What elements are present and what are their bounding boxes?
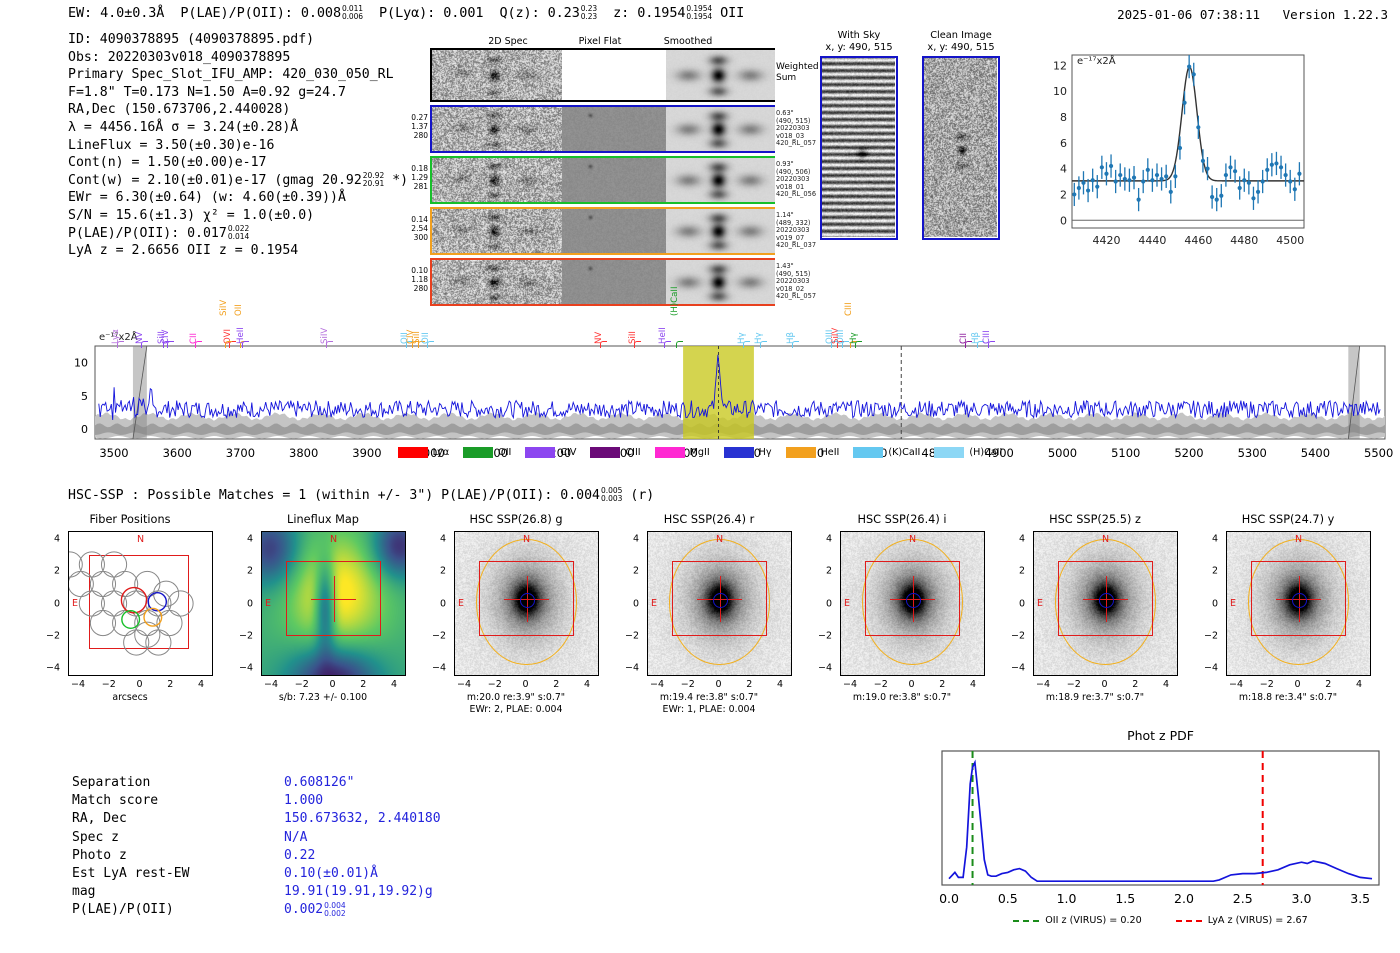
spec2d-rows: WeightedSum0.271.372800.63"(490, 515)202… [430, 48, 775, 306]
header-datetime: 2025-01-06 07:38:11 [1117, 7, 1260, 22]
match-key-0: Separation [72, 774, 284, 792]
spectrum-legend-label-5: Hγ [759, 447, 772, 458]
match-value-4: 0.22 [284, 848, 315, 863]
svg-text:3.0: 3.0 [1292, 891, 1312, 906]
spectrum-line-label-HCaII: (H)CaII [670, 286, 680, 316]
cutout-caption-4: m:19.0 re:3.8" s:0.7" [807, 692, 997, 704]
spec2d-row-stat-1-2: 280 [402, 131, 428, 140]
spec2d-cell-raw-3 [432, 209, 562, 253]
cutout-ytick-1-4: −4 [231, 663, 253, 674]
cutout-ytick-0-0: 4 [38, 534, 60, 545]
cutout-caption-0: arcsecs [35, 692, 225, 704]
cutout-ytick-4-3: −2 [810, 630, 832, 641]
phot-z-legend-label-0: OII z (VIRUS) = 0.20 [1045, 915, 1142, 926]
spectrum-legend-swatch-4 [655, 447, 685, 458]
spectrum-line-bracket-19 [760, 341, 767, 348]
hsc-matches-header: HSC-SSP : Possible Matches = 1 (within +… [68, 487, 654, 503]
spectrum-line-label-CIII: CIII [844, 302, 854, 316]
phot-z-legend-dash-0 [1013, 920, 1039, 922]
phot-z-plot: 0.00.51.01.52.02.53.03.5 [928, 743, 1393, 911]
cutout-ytick-1-3: −2 [231, 630, 253, 641]
info-redshifts: LyA z = 2.6656 OII z = 0.1954 [68, 242, 408, 260]
cutout-panel-3: HSC SSP(26.4) rNE420−2−4−4−2024m:19.4 re… [614, 513, 804, 676]
match-key-7: P(LAE)/P(OII) [72, 901, 284, 919]
spec2d-row-0: WeightedSum [430, 48, 775, 102]
spectrum-line-bracket-14 [600, 341, 607, 348]
cutout-xtick-4-1: −2 [874, 679, 888, 690]
spec2d-cell-flat-1 [562, 107, 666, 151]
cutout-panel-0: Fiber PositionsNE420−2−4−4−2024arcsecs [35, 513, 225, 676]
info-line-1: Obs: 20220303v018_4090378895 [68, 49, 408, 67]
spectrum-legend-swatch-6 [786, 447, 816, 458]
cutout-xtick-5-2: 0 [1101, 679, 1107, 690]
spectrum-legend-swatch-7 [853, 447, 883, 458]
spec2d-cell-raw-1 [432, 107, 562, 151]
cutout-xtick-0-1: −2 [102, 679, 116, 690]
spec2d-cell-flat-0 [562, 50, 666, 100]
cutout-ytick-3-4: −4 [617, 663, 639, 674]
sky-panel-coords-1: x, y: 490, 515 [922, 42, 1000, 54]
line-fit-units: e⁻¹⁷x2Å [1077, 56, 1116, 67]
cutout-compass-e-2: E [458, 598, 464, 609]
cutout-xtick-0-0: −4 [71, 679, 85, 690]
header-z-type: OII [720, 5, 744, 21]
cutout-compass-n-0: N [137, 534, 144, 545]
cutout-xtick-0-3: 2 [167, 679, 173, 690]
line-fit-svg: 02468101244204440446044804500 [1032, 45, 1310, 260]
cutout-ytick-3-0: 4 [617, 534, 639, 545]
spec2d-cell-smoothed-0 [666, 50, 773, 100]
spectrum-legend-label-2: CIV [560, 447, 576, 458]
info-line-6: LineFlux = 3.50(±0.30)e-16 [68, 137, 408, 155]
cutout-compass-n-6: N [1295, 534, 1302, 545]
cutout-xtick-5-0: −4 [1036, 679, 1050, 690]
match-row-0: Separation0.608126" [72, 774, 441, 792]
svg-text:10: 10 [1053, 85, 1067, 98]
cutout-xtick-1-3: 2 [360, 679, 366, 690]
cutout-ytick-6-3: −2 [1196, 630, 1218, 641]
header-plya-value: 0.001 [443, 5, 483, 21]
svg-text:0.5: 0.5 [998, 891, 1018, 906]
spectrum-legend-swatch-5 [724, 447, 754, 458]
spectrum-line-bracket-3 [167, 341, 174, 348]
full-spectrum-svg: 0510350036003700380039004000410042004300… [0, 272, 1400, 467]
cutout-ytick-5-2: 0 [1003, 598, 1025, 609]
cutout-xtick-0-4: 4 [198, 679, 204, 690]
spec2d-row-stat-2-2: 281 [402, 182, 428, 191]
cutout-blue-marker-3 [713, 593, 728, 608]
svg-text:2.0: 2.0 [1174, 891, 1194, 906]
sky-panel-image-0 [820, 56, 898, 240]
spectrum-legend-item-5: Hγ [724, 447, 772, 458]
match-key-2: RA, Dec [72, 810, 284, 828]
spec2d-cell-raw-2 [432, 158, 562, 202]
spec2d-cell-smoothed-2 [666, 158, 773, 202]
fiber-circles [69, 532, 212, 675]
cutout-ytick-0-3: −2 [38, 630, 60, 641]
spec2d-row-3: 0.142.543001.14"(489, 332)20220303v019_0… [430, 207, 775, 255]
cutout-xtick-5-1: −2 [1067, 679, 1081, 690]
cutout-ytick-0-2: 0 [38, 598, 60, 609]
cutout-caption-line1-5: m:18.9 re:3.7" s:0.7" [1000, 692, 1190, 704]
sky-panel-0: With Skyx, y: 490, 515 [820, 30, 898, 240]
cutout-title-0: Fiber Positions [35, 513, 225, 531]
cutout-caption-line1-3: m:19.4 re:3.8" s:0.7" [614, 692, 804, 704]
cutout-panel-4: HSC SSP(26.4) iNE420−2−4−4−2024m:19.0 re… [807, 513, 997, 676]
info-line-3: F=1.8" T=0.173 N=1.50 A=0.92 g=24.7 [68, 84, 408, 102]
spec2d-row-stats-1: 0.271.37280 [402, 113, 428, 140]
spec2d-row-2: 0.181.292810.93"(490, 506)20220303v018_0… [430, 156, 775, 204]
match-row-7: P(LAE)/P(OII)0.0020.0040.002 [72, 901, 441, 919]
cutout-ytick-6-4: −4 [1196, 663, 1218, 674]
info-line-2: Primary Spec_Slot_IFU_AMP: 420_030_050_R… [68, 66, 408, 84]
spec2d-cell-flat-3 [562, 209, 666, 253]
spectrum-line-bracket-15 [634, 341, 641, 348]
sky-panel-title-0: With Sky [820, 30, 898, 42]
cutout-xtick-5-4: 4 [1163, 679, 1169, 690]
cutout-caption-1: s/b: 7.23 +/- 0.100 [228, 692, 418, 704]
match-value-range-7: 0.0040.002 [324, 902, 345, 918]
spectrum-legend-item-4: MgII [655, 447, 710, 458]
match-row-1: Match score1.000 [72, 792, 441, 810]
cutout-ytick-0-4: −4 [38, 663, 60, 674]
cutout-caption-line1-4: m:19.0 re:3.8" s:0.7" [807, 692, 997, 704]
cutout-ytick-5-0: 4 [1003, 534, 1025, 545]
match-key-4: Photo z [72, 847, 284, 865]
svg-text:4420: 4420 [1092, 234, 1120, 247]
info-cont-w-lo: 20.91 [363, 180, 384, 188]
cutout-xtick-1-0: −4 [264, 679, 278, 690]
info-cont-w-text: Cont(w) = 2.10(±0.01)e-17 (gmag 20.92 [68, 173, 362, 188]
svg-text:10: 10 [74, 357, 88, 370]
svg-text:0.0: 0.0 [939, 891, 959, 906]
cutout-title-2: HSC SSP(26.8) g [421, 513, 611, 531]
svg-text:4: 4 [1060, 163, 1067, 176]
cutout-xtick-2-2: 0 [522, 679, 528, 690]
spectrum-line-bracket-20 [792, 341, 799, 348]
spectrum-legend-label-6: HeII [821, 447, 840, 458]
spec2d-row-stat-3-2: 300 [402, 233, 428, 242]
spec2d-cell-smoothed-3 [666, 209, 773, 253]
cutout-blue-marker-2 [520, 593, 535, 608]
cutout-caption-line1-2: m:20.0 re:3.9" s:0.7" [421, 692, 611, 704]
cutout-compass-n-4: N [909, 534, 916, 545]
cutout-blue-marker-5 [1099, 593, 1114, 608]
match-row-4: Photo z0.22 [72, 847, 441, 865]
spectrum-legend-swatch-3 [590, 447, 620, 458]
cutout-xtick-5-3: 2 [1132, 679, 1138, 690]
info-snr: S/N = 15.6(±1.3) χ² = 1.0(±0.0) [68, 207, 408, 225]
header-qz-label: Q(z): [499, 5, 539, 21]
cutout-image-3: NE [647, 531, 792, 676]
svg-text:0: 0 [81, 423, 88, 436]
cutout-xtick-2-1: −2 [488, 679, 502, 690]
cutout-xtick-2-4: 4 [584, 679, 590, 690]
spectrum-legend-swatch-2 [525, 447, 555, 458]
spectrum-line-bracket-1 [141, 341, 148, 348]
header-plae-lo: 0.006 [342, 13, 363, 21]
match-value-6: 19.91(19.91,19.92)g [284, 884, 433, 899]
cutout-ytick-4-4: −4 [810, 663, 832, 674]
info-cont-w: Cont(w) = 2.10(±0.01)e-17 (gmag 20.9220.… [68, 172, 408, 190]
info-line-5: λ = 4456.16Å σ = 3.24(±0.28)Å [68, 119, 408, 137]
spectrum-legend-swatch-8 [934, 447, 964, 458]
info-line-0: ID: 4090378895 (4090378895.pdf) [68, 31, 408, 49]
cutout-xtick-0-2: 0 [136, 679, 142, 690]
cutout-xtick-4-2: 0 [908, 679, 914, 690]
spectrum-line-bracket-28 [988, 341, 995, 348]
spectrum-line-bracket-8 [242, 341, 249, 348]
cutout-ytick-0-1: 2 [38, 566, 60, 577]
cutout-ytick-5-4: −4 [1003, 663, 1025, 674]
svg-text:8: 8 [1060, 111, 1067, 124]
spectrum-line-bracket-9 [326, 341, 333, 348]
cutout-xtick-2-3: 2 [553, 679, 559, 690]
match-value-1: 1.000 [284, 793, 323, 808]
sky-image-panels: With Skyx, y: 490, 515Clean Imagex, y: 4… [820, 30, 1000, 240]
svg-text:2.5: 2.5 [1233, 891, 1253, 906]
spec2d-row-stat-3-0: 0.14 [402, 215, 428, 224]
spectrum-line-label-SiIV: SiIV [219, 300, 229, 316]
cutout-ytick-2-4: −4 [424, 663, 446, 674]
spectrum-legend-item-7: (K)CaII [853, 447, 920, 458]
match-value-2: 150.673632, 2.440180 [284, 811, 441, 826]
spectrum-legend-item-6: HeII [786, 447, 840, 458]
line-fit-plot: 02468101244204440446044804500e⁻¹⁷x2Å [1032, 45, 1310, 260]
cutout-xtick-4-4: 4 [970, 679, 976, 690]
cutout-ytick-2-2: 0 [424, 598, 446, 609]
cutout-title-5: HSC SSP(25.5) z [1000, 513, 1190, 531]
spectrum-line-bracket-17 [676, 341, 683, 348]
phot-z-legend: OII z (VIRUS) = 0.20LyA z (VIRUS) = 2.67 [928, 915, 1393, 926]
hsc-header-plae: 0.004 [560, 488, 600, 503]
spec2d-col-title-2: Smoothed [664, 36, 713, 47]
cutout-ytick-4-1: 2 [810, 566, 832, 577]
match-row-5: Est LyA rest-EW0.10(±0.01)Å [72, 865, 441, 883]
cutout-ytick-2-3: −2 [424, 630, 446, 641]
cutout-ytick-1-1: 2 [231, 566, 253, 577]
cutout-image-0: NE [68, 531, 213, 676]
cutout-image-5: NE [1033, 531, 1178, 676]
spectrum-legend-swatch-0 [398, 447, 428, 458]
cutout-xtick-3-0: −4 [650, 679, 664, 690]
cutout-xtick-6-4: 4 [1356, 679, 1362, 690]
cutout-image-2: NE [454, 531, 599, 676]
spectrum-legend-item-1: OII [463, 447, 511, 458]
cutout-ytick-4-0: 4 [810, 534, 832, 545]
spectrum-legend-item-8: (H)CaII [934, 447, 1002, 458]
cutout-image-1: NE [261, 531, 406, 676]
spec2d-row-stat-1-1: 1.37 [402, 122, 428, 131]
spec2d-row-meta-3-4: 420_RL_037 [776, 242, 836, 250]
spectrum-legend-item-0: Lyα [398, 447, 449, 458]
spec2d-row-stats-2: 0.181.29281 [402, 164, 428, 191]
cutout-compass-n-3: N [716, 534, 723, 545]
cutout-panel-2: HSC SSP(26.8) gNE420−2−4−4−2024m:20.0 re… [421, 513, 611, 676]
cutout-caption-3: m:19.4 re:3.8" s:0.7"EWr: 1, PLAE: 0.004 [614, 692, 804, 715]
cutout-xtick-1-1: −2 [295, 679, 309, 690]
spec2d-row-stat-3-1: 2.54 [402, 224, 428, 233]
spectrum-legend-label-4: MgII [690, 447, 710, 458]
svg-text:3.5: 3.5 [1350, 891, 1370, 906]
cutout-compass-n-5: N [1102, 534, 1109, 545]
spectrum-line-bracket-6 [225, 341, 232, 348]
header-qz-lo: 0.23 [581, 13, 597, 21]
phot-z-legend-item-1: LyA z (VIRUS) = 2.67 [1176, 915, 1308, 926]
info-plae-value: 0.017 [187, 226, 227, 241]
cutout-ytick-6-1: 2 [1196, 566, 1218, 577]
spectrum-line-label-OII: OII [234, 304, 244, 316]
spectrum-line-bracket-18 [743, 341, 750, 348]
cutout-panel-6: HSC SSP(24.7) yNE420−2−4−4−2024m:18.8 re… [1193, 513, 1383, 676]
info-line-4: RA,Dec (150.673706,2.440028) [68, 101, 408, 119]
spec2d-row-stat-2-0: 0.18 [402, 164, 428, 173]
cutout-ytick-3-1: 2 [617, 566, 639, 577]
hsc-header-plae-lo: 0.003 [601, 495, 622, 503]
svg-text:4500: 4500 [1276, 234, 1304, 247]
header-summary: EW: 4.0±0.3Å P(LAE)/P(OII): 0.0080.0110.… [68, 5, 744, 21]
svg-text:1.0: 1.0 [1057, 891, 1077, 906]
cutout-caption-6: m:18.8 re:3.4" s:0.7" [1193, 692, 1383, 704]
spectrum-legend-label-1: OII [498, 447, 511, 458]
svg-text:4480: 4480 [1230, 234, 1258, 247]
svg-text:2: 2 [1060, 188, 1067, 201]
cutout-xtick-3-2: 0 [715, 679, 721, 690]
cutout-caption-line1-0: arcsecs [35, 692, 225, 704]
match-key-1: Match score [72, 792, 284, 810]
cutout-ytick-2-1: 2 [424, 566, 446, 577]
cutout-compass-e-6: E [1230, 598, 1236, 609]
header-version: Version 1.22.3 [1283, 7, 1388, 22]
cutout-compass-e-4: E [844, 598, 850, 609]
cutout-panel-5: HSC SSP(25.5) zNE420−2−4−4−2024m:18.9 re… [1000, 513, 1190, 676]
info-plae-lo: 0.014 [228, 233, 249, 241]
spectrum-legend-label-7: (K)CaII [888, 447, 920, 458]
match-value-5: 0.10(±0.01)Å [284, 866, 378, 881]
spec2d-weighted-sum-l1: Weighted [776, 62, 819, 73]
cutout-xtick-6-0: −4 [1229, 679, 1243, 690]
info-plae: P(LAE)/P(OII): 0.0170.0220.014 [68, 225, 408, 243]
cutout-panel-1: Lineflux MapNE420−2−4−4−2024s/b: 7.23 +/… [228, 513, 418, 676]
cutout-xtick-2-0: −4 [457, 679, 471, 690]
svg-text:4440: 4440 [1138, 234, 1166, 247]
phot-z-legend-dash-1 [1176, 920, 1202, 922]
spectrum-line-bracket-13 [427, 341, 434, 348]
spectrum-legend-label-0: Lyα [433, 447, 449, 458]
cutout-ytick-3-3: −2 [617, 630, 639, 641]
cutout-caption-line2-2: EWr: 2, PLAE: 0.004 [421, 704, 611, 716]
svg-text:1.5: 1.5 [1115, 891, 1135, 906]
spectrum-legend-swatch-1 [463, 447, 493, 458]
cutout-compass-e-1: E [265, 598, 271, 609]
match-value-lo-7: 0.002 [324, 910, 345, 918]
match-row-6: mag19.91(19.91,19.92)g [72, 883, 441, 901]
cutout-ytick-2-0: 4 [424, 534, 446, 545]
header-ew: EW: 4.0±0.3Å [68, 5, 164, 21]
cutout-compass-n-2: N [523, 534, 530, 545]
cutout-xtick-6-2: 0 [1294, 679, 1300, 690]
spec2d-weighted-sum-l2: Sum [776, 73, 819, 84]
cutout-image-6: NE [1226, 531, 1371, 676]
cutout-caption-line2-3: EWr: 1, PLAE: 0.004 [614, 704, 804, 716]
info-plae-label: P(LAE)/P(OII): [68, 226, 179, 241]
spectrum-legend: LyαOIICIVCIIIMgIIHγHeII(K)CaII(H)CaII [0, 447, 1400, 458]
match-key-5: Est LyA rest-EW [72, 865, 284, 883]
cutout-caption-line1-1: s/b: 7.23 +/- 0.100 [228, 692, 418, 704]
phot-z-pdf-panel: Phot z PDF 0.00.51.01.52.02.53.03.5 OII … [928, 728, 1393, 943]
hsc-header-prefix: HSC-SSP : Possible Matches = 1 (within +… [68, 488, 552, 503]
cutout-xtick-1-2: 0 [329, 679, 335, 690]
info-line-7: Cont(n) = 1.50(±0.00)e-17 [68, 154, 408, 172]
spectrum-line-bracket-16 [664, 341, 671, 348]
header-timestamp-block: 2025-01-06 07:38:11 Version 1.22.3 [1117, 7, 1388, 22]
spec2d-row-stats-3: 0.142.54300 [402, 215, 428, 242]
header-plya-label: P(Lyα): [379, 5, 435, 21]
spec2d-col-title-1: Pixel Flat [579, 36, 622, 47]
match-value-7: 0.002 [284, 902, 323, 917]
cutout-ytick-4-2: 0 [810, 598, 832, 609]
phot-z-legend-item-0: OII z (VIRUS) = 0.20 [1013, 915, 1142, 926]
cutout-ytick-1-0: 4 [231, 534, 253, 545]
cutout-compass-e-3: E [651, 598, 657, 609]
svg-text:12: 12 [1053, 59, 1067, 72]
cutout-xtick-4-0: −4 [843, 679, 857, 690]
spectrum-line-bracket-25 [855, 341, 862, 348]
cutout-ytick-6-2: 0 [1196, 598, 1218, 609]
header-z-label: z: [613, 5, 629, 21]
match-value-0: 0.608126" [284, 775, 354, 790]
spectrum-legend-item-2: CIV [525, 447, 576, 458]
cutout-image-4: NE [840, 531, 985, 676]
spec2d-cell-flat-2 [562, 158, 666, 202]
match-value-3: N/A [284, 830, 307, 845]
cutout-title-1: Lineflux Map [228, 513, 418, 531]
spec2d-weighted-sum-label: WeightedSum [776, 62, 819, 84]
spectrum-legend-label-3: CIII [625, 447, 640, 458]
sky-panel-title-1: Clean Image [922, 30, 1000, 42]
cutout-xtick-3-4: 4 [777, 679, 783, 690]
sky-panel-1: Clean Imagex, y: 490, 515 [922, 30, 1000, 240]
hsc-header-suffix: (r) [630, 488, 654, 503]
spec2d-row-stat-1-0: 0.27 [402, 113, 428, 122]
cutout-xtick-3-1: −2 [681, 679, 695, 690]
full-spectrum-plot: 0510350036003700380039004000410042004300… [0, 272, 1400, 467]
cutout-compass-e-0: E [72, 598, 78, 609]
cutout-ytick-5-3: −2 [1003, 630, 1025, 641]
cutout-title-4: HSC SSP(26.4) i [807, 513, 997, 531]
cutout-caption-line1-6: m:18.8 re:3.4" s:0.7" [1193, 692, 1383, 704]
spectrum-line-bracket-4 [195, 341, 202, 348]
cutout-ytick-3-2: 0 [617, 598, 639, 609]
match-row-2: RA, Dec150.673632, 2.440180 [72, 810, 441, 828]
sky-panel-coords-0: x, y: 490, 515 [820, 42, 898, 54]
spec2d-column-titles: 2D SpecPixel FlatSmoothed [430, 36, 775, 48]
cutout-ytick-5-1: 2 [1003, 566, 1025, 577]
svg-text:5: 5 [81, 390, 88, 403]
match-key-3: Spec z [72, 829, 284, 847]
spectrum-legend-item-3: CIII [590, 447, 640, 458]
source-info-block: ID: 4090378895 (4090378895.pdf)Obs: 2022… [68, 31, 408, 260]
cutout-row: Fiber PositionsNE420−2−4−4−2024arcsecsLi… [0, 513, 1400, 728]
header-z-lo: 0.1954 [686, 13, 712, 21]
spectrum-legend-label-8: (H)CaII [969, 447, 1002, 458]
header-z-value: 0.1954 [637, 5, 685, 21]
header-plae-value: 0.008 [301, 5, 341, 21]
cutout-xtick-6-1: −2 [1260, 679, 1274, 690]
svg-text:4460: 4460 [1184, 234, 1212, 247]
spectrum-line-bracket-0 [117, 341, 124, 348]
svg-text:6: 6 [1060, 137, 1067, 150]
